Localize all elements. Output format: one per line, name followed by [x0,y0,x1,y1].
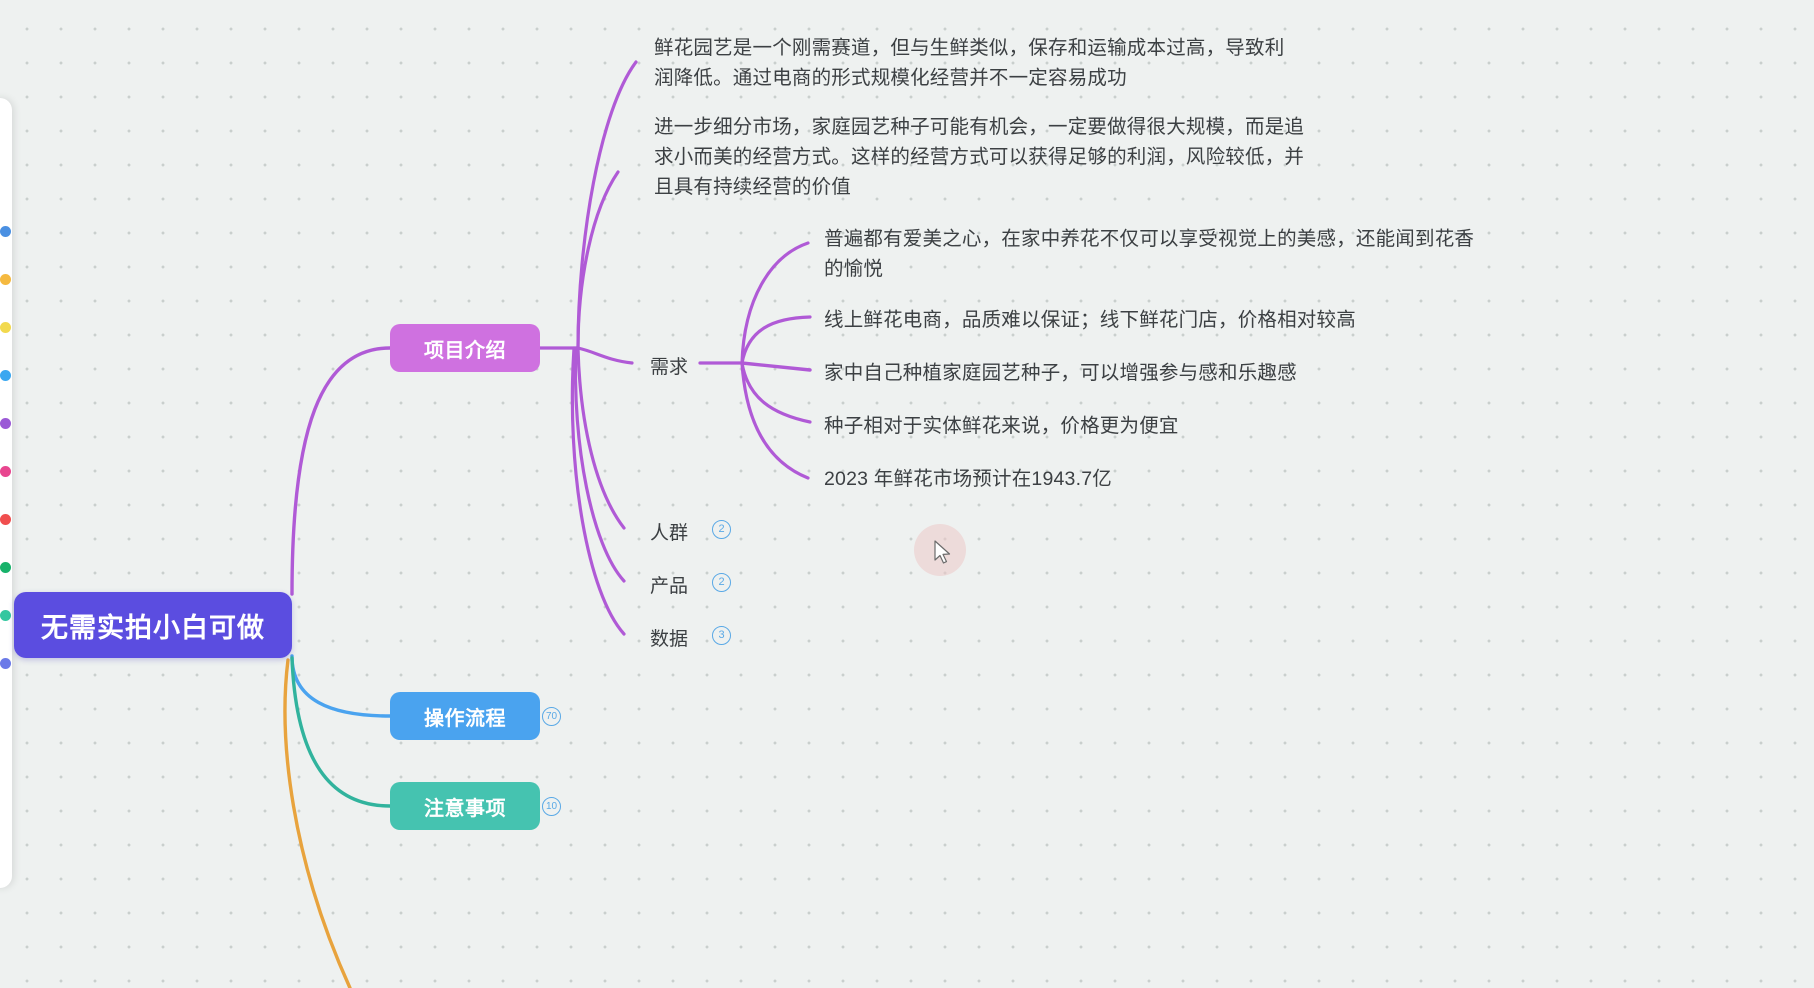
leaf-intro-paragraph-2[interactable]: 进一步细分市场，家庭园艺种子可能有机会，一定要做得很大规模，而是追求小而美的经营… [654,112,1314,202]
leaf-demand-1[interactable]: 普遍都有爱美之心，在家中养花不仅可以享受视觉上的美感，还能闻到花香的愉悦 [824,224,1482,284]
leaf-demand-3[interactable]: 家中自己种植家庭园艺种子，可以增强参与感和乐趣感 [824,358,1524,388]
leaf-demand-5[interactable]: 2023 年鲜花市场预计在1943.7亿 [824,464,1524,494]
palette-swatch[interactable] [0,562,11,573]
leaf-intro-paragraph-1[interactable]: 鲜花园艺是一个刚需赛道，但与生鲜类似，保存和运输成本过高，导致利润降低。通过电商… [654,33,1294,93]
palette-swatch[interactable] [0,418,11,429]
node-data[interactable]: 数据 [650,624,688,651]
palette-swatch[interactable] [0,370,11,381]
child-count-badge-product[interactable]: 2 [712,573,731,592]
node-project-intro[interactable]: 项目介绍 [390,324,540,372]
palette-swatch[interactable] [0,226,11,237]
palette-swatch[interactable] [0,514,11,525]
child-count-badge-data[interactable]: 3 [712,626,731,645]
child-count-badge-precautions[interactable]: 10 [542,797,561,816]
palette-swatch[interactable] [0,610,11,621]
palette-swatch[interactable] [0,322,11,333]
leaf-demand-2[interactable]: 线上鲜花电商，品质难以保证；线下鲜花门店，价格相对较高 [824,305,1524,335]
palette-swatch[interactable] [0,274,11,285]
child-count-badge-operation-flow[interactable]: 70 [542,707,561,726]
palette-swatch[interactable] [0,466,11,477]
node-operation-flow[interactable]: 操作流程 [390,692,540,740]
collapsed-side-toolbar[interactable] [0,98,12,888]
leaf-demand-4[interactable]: 种子相对于实体鲜花来说，价格更为便宜 [824,411,1524,441]
palette-swatch[interactable] [0,658,11,669]
node-product[interactable]: 产品 [650,571,688,598]
node-audience[interactable]: 人群 [650,518,688,545]
node-demand[interactable]: 需求 [650,352,688,379]
child-count-badge-audience[interactable]: 2 [712,520,731,539]
mindmap-canvas[interactable]: 无需实拍小白可做 项目介绍 操作流程 70 注意事项 10 鲜花园艺是一个刚需赛… [0,0,1814,988]
node-precautions[interactable]: 注意事项 [390,782,540,830]
mindmap-root-node[interactable]: 无需实拍小白可做 [14,592,292,658]
